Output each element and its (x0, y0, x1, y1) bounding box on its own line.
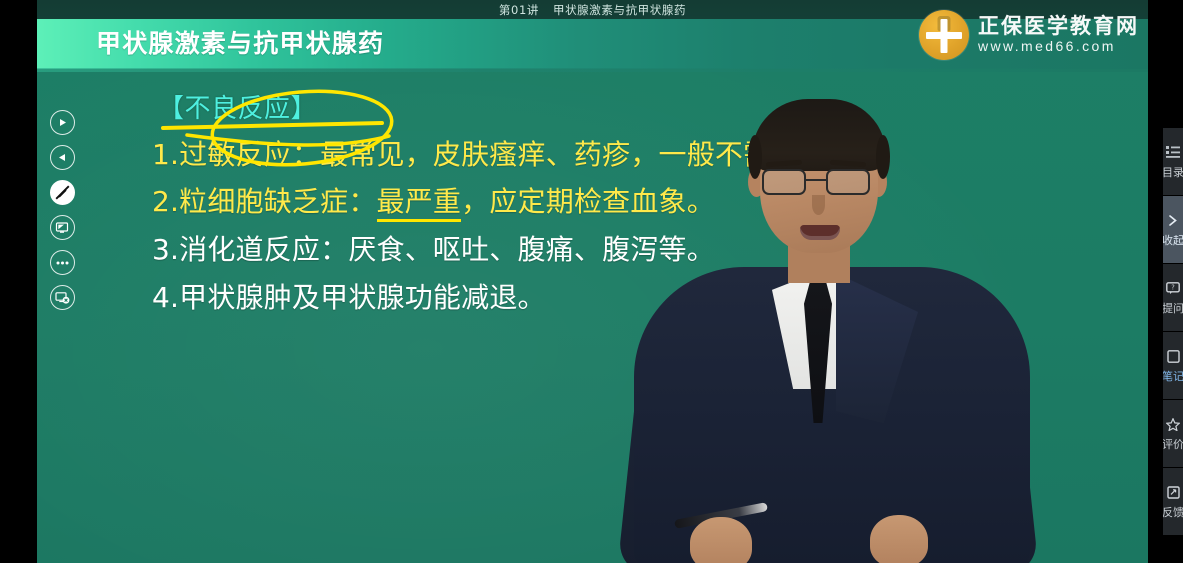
page-title: 甲状腺激素与抗甲状腺药 (96, 24, 384, 60)
slide-heading: 【不良反应】 (158, 88, 317, 125)
sidebar-item-collapse-label: 收起 (1163, 235, 1183, 246)
presenter-hair (752, 99, 886, 171)
slide-bullet-2-lead: 2.粒细胞缺乏症： (152, 185, 377, 218)
presenter-glasses-bridge (806, 179, 828, 181)
brand-text: 正保医学教育网 www.med66.com (978, 15, 1139, 55)
sidebar-item-feedback-label: 反馈 (1163, 507, 1183, 518)
sidebar-item-notes[interactable]: 笔记 (1163, 332, 1183, 399)
presenter-hand-right (870, 515, 928, 563)
brand-url: www.med66.com (978, 38, 1139, 55)
presenter-nose (812, 195, 825, 215)
logo-cross-horizontal (926, 32, 962, 39)
svg-text:?: ? (1171, 283, 1175, 291)
feedback-icon (1167, 486, 1180, 503)
presenter-figure (612, 95, 1072, 563)
close-screen-button[interactable] (50, 285, 75, 310)
right-sidebar[interactable]: 目录 收起 ? 提问 (1163, 0, 1183, 563)
presenter-glasses-left (762, 169, 806, 195)
sidebar-item-rating[interactable]: 评价 (1163, 400, 1183, 467)
list-icon (1166, 146, 1180, 163)
lecture-title: 甲状腺激素与抗甲状腺药 (553, 3, 686, 17)
expand-screen-icon (55, 221, 69, 235)
star-icon (1166, 418, 1180, 435)
question-bubble-icon: ? (1166, 282, 1180, 299)
play-button[interactable] (50, 110, 75, 135)
pen-disabled-icon (53, 183, 72, 202)
sidebar-item-question[interactable]: ? 提问 (1163, 264, 1183, 331)
expand-screen-button[interactable] (50, 215, 75, 240)
screen-close-icon (55, 291, 70, 305)
more-dots-icon (55, 260, 70, 266)
note-icon (1167, 350, 1180, 367)
left-toolbar[interactable] (43, 110, 81, 320)
sidebar-item-feedback[interactable]: 反馈 (1163, 468, 1183, 535)
brand-logo: 正保医学教育网 www.med66.com (919, 8, 1145, 62)
sidebar-item-catalog[interactable]: 目录 (1163, 128, 1183, 195)
right-sidebar-list[interactable]: 目录 收起 ? 提问 (1163, 128, 1183, 536)
sidebar-item-catalog-label: 目录 (1163, 167, 1183, 178)
sidebar-item-question-label: 提问 (1163, 303, 1183, 314)
presenter-hand-left (690, 517, 752, 563)
previous-icon (57, 152, 68, 163)
lesson-title-text: 第01讲甲状腺激素与抗甲状腺药 (499, 2, 686, 18)
pen-off-button[interactable] (50, 180, 75, 205)
more-options-button[interactable] (50, 250, 75, 275)
cross-medical-logo-icon (919, 10, 969, 60)
sidebar-item-collapse[interactable]: 收起 (1163, 196, 1183, 263)
video-area[interactable]: 第01讲甲状腺激素与抗甲状腺药 甲状腺激素与抗甲状腺药 正保医学教育网 www.… (37, 0, 1148, 563)
play-icon (57, 117, 68, 128)
presenter-mouth (800, 225, 840, 240)
presenter-glasses-right (826, 169, 870, 195)
brand-name: 正保医学教育网 (978, 15, 1139, 39)
video-player-page: 第01讲甲状腺激素与抗甲状腺药 甲状腺激素与抗甲状腺药 正保医学教育网 www.… (0, 0, 1183, 563)
slide-bullet-4: 4.甲状腺肿及甲状腺功能减退。 (152, 276, 546, 316)
chevron-right-icon (1167, 214, 1179, 231)
previous-button[interactable] (50, 145, 75, 170)
sidebar-item-notes-label: 笔记 (1163, 371, 1183, 382)
lecture-number: 第01讲 (499, 3, 539, 17)
sidebar-item-rating-label: 评价 (1163, 439, 1183, 450)
slide-bullet-2-emphasis: 最严重 (377, 185, 462, 222)
